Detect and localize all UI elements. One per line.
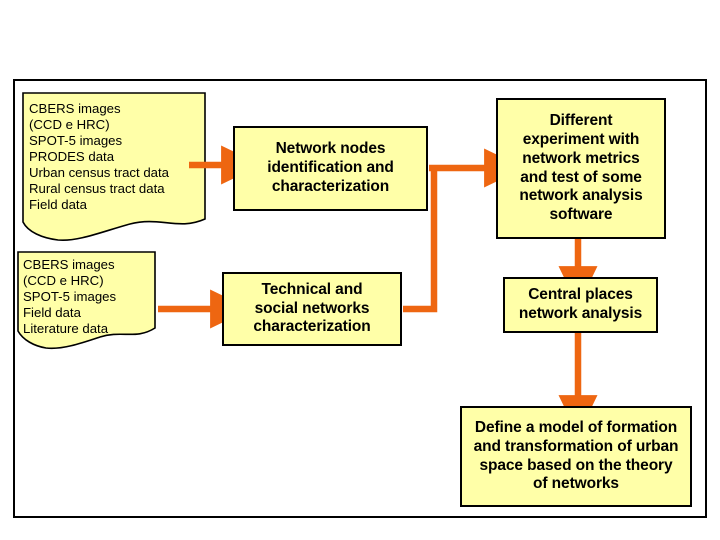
network-nodes-identification-box[interactable]: Network nodes identification and charact… [233, 126, 428, 211]
network-nodes-identification-label: Network nodes identification and charact… [235, 140, 426, 197]
technical-social-networks-label: Technical and social networks characteri… [224, 281, 400, 338]
different-experiment-box[interactable]: Different experiment with network metric… [496, 98, 666, 239]
central-places-box[interactable]: Central places network analysis [503, 277, 658, 333]
input-data-document-1-text: CBERS images (CCD e HRC) SPOT-5 images P… [29, 101, 199, 213]
define-model-box[interactable]: Define a model of formation and transfor… [460, 406, 692, 507]
diagram-canvas: CBERS images (CCD e HRC) SPOT-5 images P… [0, 0, 720, 540]
different-experiment-label: Different experiment with network metric… [498, 112, 664, 225]
define-model-label: Define a model of formation and transfor… [462, 419, 690, 495]
input-data-document-2-text: CBERS images (CCD e HRC) SPOT-5 images F… [23, 257, 173, 337]
central-places-label: Central places network analysis [505, 286, 656, 324]
technical-social-networks-box[interactable]: Technical and social networks characteri… [222, 272, 402, 346]
